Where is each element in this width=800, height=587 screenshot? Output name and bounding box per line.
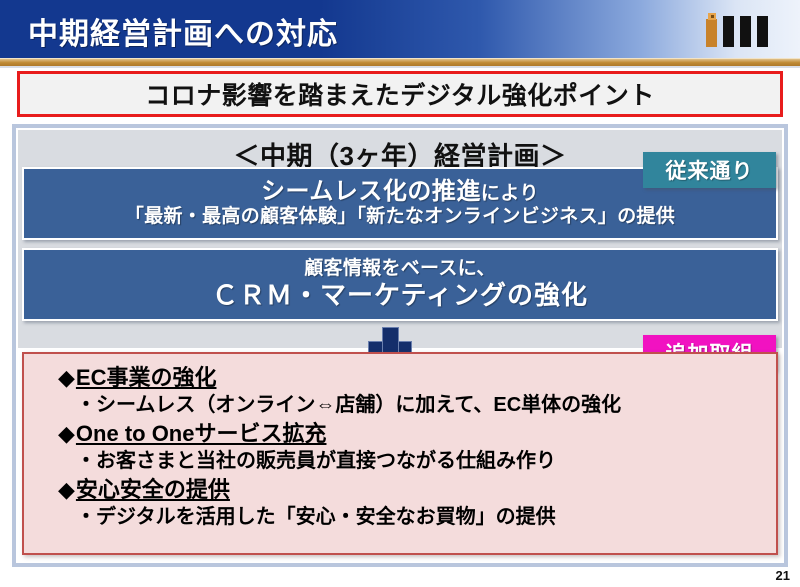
measure-heading-safety-text: 安心安全の提供 [76,476,230,504]
measure-detail-safety: ・デジタルを活用した「安心・安全なお買物」の提供 [58,504,776,530]
strategy-box-seamless-line2: 「最新・最高の顧客体験」「新たなオンラインビジネス」の提供 [125,206,675,228]
strategy-box-seamless-line1: シームレス化の推進により [261,178,539,206]
page-title: 中期経営計画への対応 [28,9,338,53]
strategy-box-seamless-main: シームレス化の推進 [261,178,481,205]
measure-detail-ec: ・シームレス（オンライン⇔店舗）に加えて、EC単体の強化 [58,392,776,418]
company-bar-logo-icon [706,13,772,47]
badge-conventional-label: 従来通り [666,155,754,185]
measure-heading-one-to-one-text: One to Oneサービス拡充 [76,420,327,448]
subtitle-banner: コロナ影響を踏まえたデジタル強化ポイント [17,71,783,117]
diamond-bullet-icon: ◆ [58,420,75,448]
strategy-box-crm-line2: ＣＲＭ・マーケティングの強化 [212,280,588,311]
strategy-box-crm-line1: 顧客情報をベースに、 [304,258,495,280]
measure-heading-one-to-one: ◆ One to Oneサービス拡充 [58,420,776,448]
strategy-box-seamless-suffix: により [481,183,539,204]
diamond-bullet-icon: ◆ [58,476,75,504]
measure-heading-ec: ◆ EC事業の強化 [58,364,776,392]
diamond-bullet-icon: ◆ [58,364,75,392]
page-number: 21 [776,568,790,583]
header-divider-shadow [0,66,800,68]
measure-heading-ec-text: EC事業の強化 [76,364,217,392]
subtitle-text: コロナ影響を踏まえたデジタル強化ポイント [145,76,655,112]
strategy-box-crm: 顧客情報をベースに、 ＣＲＭ・マーケティングの強化 [22,248,778,321]
measure-detail-one-to-one: ・お客さまと当社の販売員が直接つながる仕組み作り [58,448,776,474]
additional-measures-box: ◆ EC事業の強化 ・シームレス（オンライン⇔店舗）に加えて、EC単体の強化 ◆… [22,352,778,555]
measure-heading-safety: ◆ 安心安全の提供 [58,476,776,504]
badge-conventional: 従来通り [643,152,776,188]
